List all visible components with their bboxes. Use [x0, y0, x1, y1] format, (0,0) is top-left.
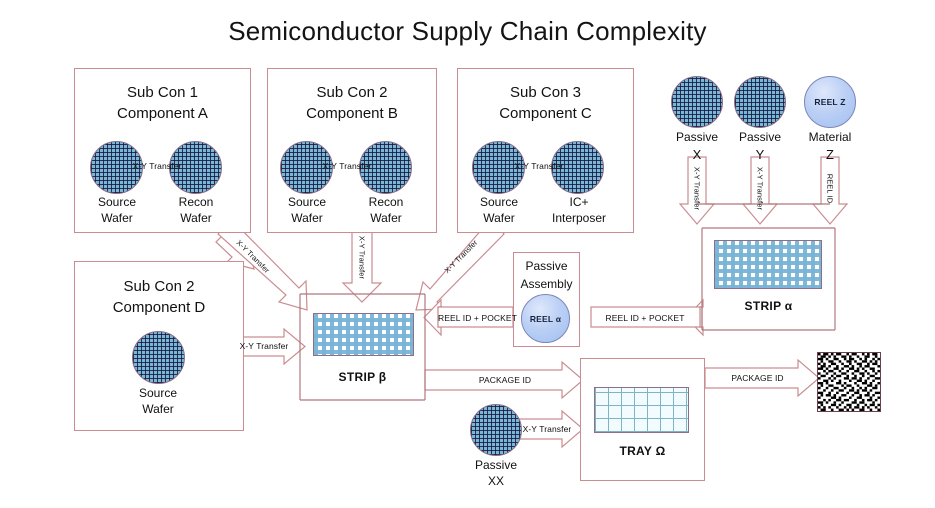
subcon2-heading: Sub Con 2 [267, 84, 437, 103]
wafer-sc2d-source-label-1: Source [129, 386, 187, 401]
subcon2-subheading: Component B [267, 105, 437, 124]
arrow-tray-to-datamatrix [705, 360, 819, 396]
wafer-sc1-recon-label-2: Wafer [167, 211, 225, 226]
subcon1-subheading: Component A [74, 105, 251, 124]
passive-assembly-heading-2: Assembly [508, 277, 585, 292]
wafer-sc2-source-label-2: Wafer [278, 211, 336, 226]
wafer-sc2-recon [359, 141, 412, 194]
package-datamatrix-icon [817, 352, 881, 412]
passive-xx-label-1: Passive [464, 458, 528, 473]
passive-x-label-2: X [666, 147, 728, 163]
wafer-sc1-recon [169, 141, 222, 194]
reel-alpha-circle: REEL α [521, 294, 570, 343]
subcon2d-heading: Sub Con 2 [74, 278, 244, 297]
tray-omega-label: TRAY Ω [580, 444, 705, 459]
material-z-label-1: Material [797, 130, 863, 145]
reel-z-label: REEL Z [814, 97, 845, 107]
reel-z-circle: REEL Z [804, 76, 856, 128]
wafer-sc3-ic-interposer [551, 141, 604, 194]
diagram-canvas: Semiconductor Supply Chain Complexity .a… [0, 0, 935, 508]
wafer-sc2-recon-label-1: Recon [357, 195, 415, 210]
wafer-passive-y [734, 76, 786, 128]
arrow-subcon3-to-stripbeta [416, 220, 504, 310]
tray-omega-graphic [594, 387, 689, 433]
wafer-sc3-ic-label-2: Interposer [545, 211, 613, 226]
wafer-sc2d-source-label-2: Wafer [129, 402, 187, 417]
arrow-materialz-to-stripalpha [813, 157, 847, 224]
wafer-sc3-ic-label-1: IC+ [545, 195, 613, 210]
strip-beta-graphic [313, 313, 414, 356]
wafer-sc2-source [280, 141, 333, 194]
arrow-passivey-to-stripalpha [743, 157, 777, 224]
passive-y-label-2: Y [729, 147, 791, 163]
arrow-stripbeta-to-tray [425, 362, 583, 398]
wafer-passive-x [671, 76, 723, 128]
wafer-sc2-recon-label-2: Wafer [357, 211, 415, 226]
strip-alpha-graphic [714, 240, 822, 289]
wafer-sc3-source [472, 141, 525, 194]
datamatrix-svg [818, 353, 880, 411]
reel-alpha-label: REEL α [530, 314, 561, 324]
wafer-sc1-source-label-1: Source [88, 195, 146, 210]
wafer-sc3-source-label-1: Source [470, 195, 528, 210]
arrow-stripalpha-to-reelalpha [591, 300, 703, 335]
wafer-sc1-source-label-2: Wafer [88, 211, 146, 226]
subcon1-heading: Sub Con 1 [74, 84, 251, 103]
wafer-sc2-source-label-1: Source [278, 195, 336, 210]
strip-alpha-label: STRIP α [702, 299, 835, 314]
arrow-passivex-to-stripalpha [680, 157, 714, 224]
passive-xx-label-2: XX [464, 474, 528, 489]
strip-beta-label: STRIP β [300, 370, 425, 385]
arrow-reelalpha-to-stripbeta [424, 300, 513, 335]
wafer-sc2d-source [132, 331, 185, 384]
subcon3-subheading: Component C [457, 105, 634, 124]
arrow-subcon2-to-stripbeta [343, 228, 381, 302]
wafer-sc1-source [90, 141, 143, 194]
wafer-passive-xx [470, 404, 522, 456]
wafer-sc3-source-label-2: Wafer [470, 211, 528, 226]
passive-y-label-1: Passive [729, 130, 791, 145]
passive-x-label-1: Passive [666, 130, 728, 145]
material-z-label-2: Z [797, 147, 863, 163]
subcon3-heading: Sub Con 3 [457, 84, 634, 103]
wafer-sc1-recon-label-1: Recon [167, 195, 225, 210]
passive-assembly-heading-1: Passive [513, 259, 580, 274]
subcon2d-subheading: Component D [74, 299, 244, 318]
